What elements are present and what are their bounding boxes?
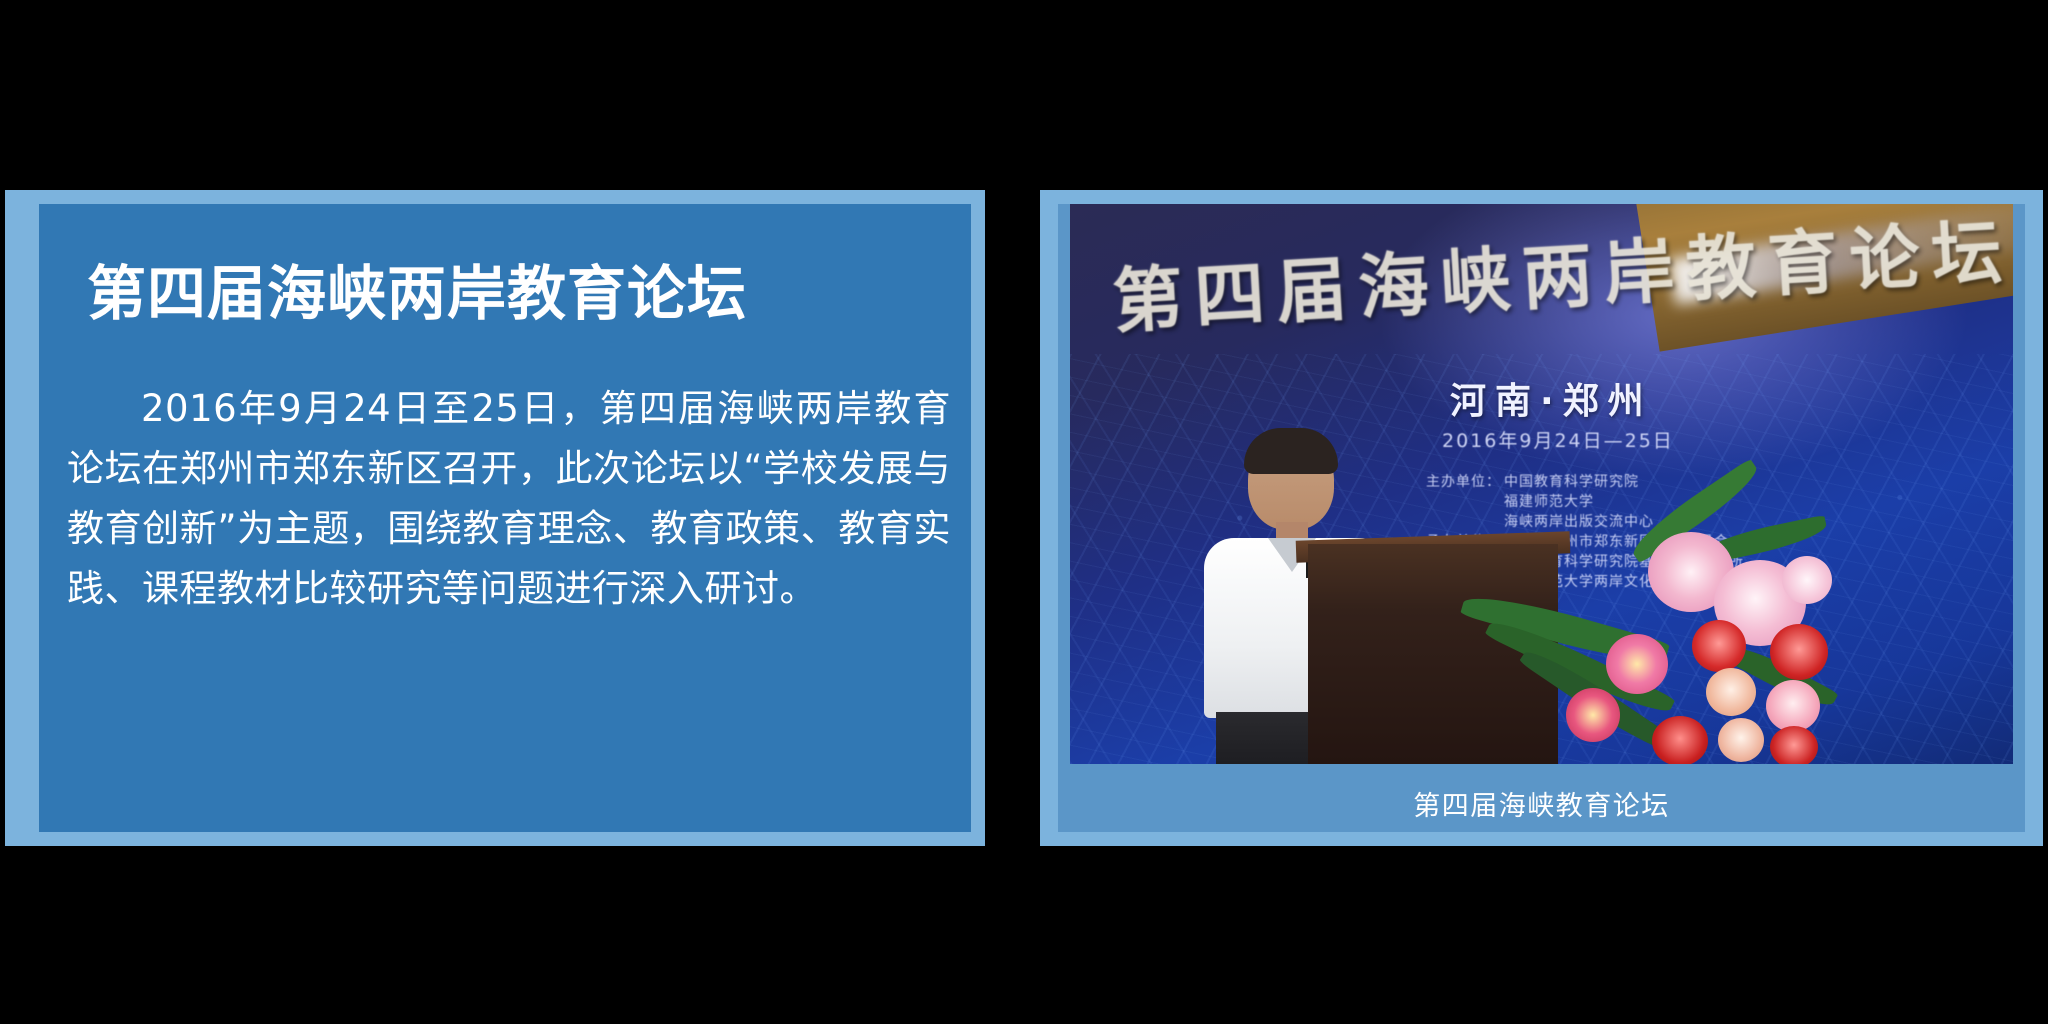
left-text-panel: 第四届海峡两岸教育论坛 2016年9月24日至25日，第四届海峡两岸教育论坛在郑… <box>39 204 971 832</box>
flower-rose-red <box>1770 624 1828 680</box>
flower-rose-pink <box>1718 718 1764 762</box>
slide-stage: 第四届海峡两岸教育论坛 2016年9月24日至25日，第四届海峡两岸教育论坛在郑… <box>0 0 2048 1024</box>
right-image-panel-frame: 第四届海峡两岸教育论坛 河南·郑州 2016年9月24日—25日 主办单位：中国… <box>1040 190 2043 846</box>
flower-gerbera <box>1566 688 1620 742</box>
organizer-name: 中国教育科学研究院 <box>1504 474 1639 490</box>
flower-gerbera <box>1606 634 1668 694</box>
organizer-row: 主办单位：中国教育科学研究院 <box>1426 472 1744 492</box>
flower-rose-pink <box>1706 668 1756 716</box>
photo-caption: 第四届海峡教育论坛 <box>1058 784 2025 823</box>
left-text-panel-frame: 第四届海峡两岸教育论坛 2016年9月24日至25日，第四届海峡两岸教育论坛在郑… <box>5 190 985 846</box>
body-paragraph: 2016年9月24日至25日，第四届海峡两岸教育论坛在郑州市郑东新区召开，此次论… <box>67 379 951 619</box>
conference-photo: 第四届海峡两岸教育论坛 河南·郑州 2016年9月24日—25日 主办单位：中国… <box>1070 204 2013 764</box>
flower-rose-red <box>1652 716 1708 764</box>
photo-banner-city: 河南·郑州 <box>1450 372 1653 424</box>
flower-rose-pink <box>1766 680 1820 732</box>
speaker-hair <box>1244 428 1338 474</box>
photo-flower-arrangement <box>1470 504 1830 764</box>
right-image-panel: 第四届海峡两岸教育论坛 河南·郑州 2016年9月24日—25日 主办单位：中国… <box>1058 204 2025 832</box>
photo-banner-date: 2016年9月24日—25日 <box>1442 426 1674 453</box>
flower-lily <box>1782 556 1832 604</box>
flower-rose-red <box>1692 620 1746 672</box>
page-title: 第四届海峡两岸教育论坛 <box>87 262 927 327</box>
organizer-label-host: 主办单位： <box>1426 472 1504 492</box>
flower-rose-red <box>1770 726 1818 764</box>
